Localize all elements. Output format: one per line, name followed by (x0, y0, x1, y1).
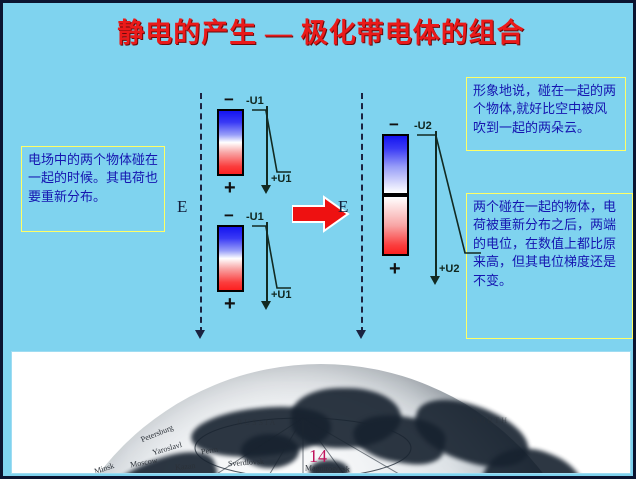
field-line-left (200, 93, 202, 333)
plus-sign-upper: + (224, 178, 236, 198)
plus-sign-lower: + (224, 294, 236, 314)
page-number: 14 (309, 446, 327, 467)
minus-sign-lower: − (224, 207, 234, 224)
page-title: 静电的产生 — 极化带电体的组合 (3, 11, 636, 50)
callout-bottom-right: 两个碰在一起的物体，电荷被重新分布之后，两端的电位，在数值上都比原来高，但其电位… (466, 193, 633, 339)
minus-sign-combined: − (389, 116, 399, 133)
potential-top-label-combined: -U2 (414, 120, 432, 132)
charge-bar-combined-top (382, 134, 409, 195)
potential-bottom-label-upper: +U1 (271, 173, 292, 185)
charge-bar-upper (217, 109, 244, 176)
potential-top-label-upper: -U1 (246, 95, 264, 107)
field-arrowhead-right (356, 330, 366, 339)
field-line-right (361, 93, 363, 333)
slide-canvas: 静电的产生 — 极化带电体的组合 电场中的两个物体碰在一起的时候。其电荷也要重新… (0, 0, 636, 479)
field-label-left: E (177, 197, 187, 217)
field-arrowhead-left (195, 330, 205, 339)
plus-sign-combined: + (389, 259, 401, 279)
potential-curve-combined (413, 129, 485, 281)
potential-bottom-label-lower: +U1 (271, 289, 292, 301)
field-label-right: E (338, 197, 348, 217)
minus-sign-upper: − (224, 91, 234, 108)
callout-top-right: 形象地说，碰在一起的两个物体,就好比空中被风吹到一起的两朵云。 (466, 77, 626, 151)
charge-bar-combined-bottom (382, 195, 409, 256)
potential-bottom-label-combined: +U2 (439, 263, 460, 275)
callout-left: 电场中的两个物体碰在一起的时候。其电荷也要重新分布。 (21, 146, 165, 232)
charge-bar-lower (217, 225, 244, 292)
potential-top-label-lower: -U1 (246, 211, 264, 223)
